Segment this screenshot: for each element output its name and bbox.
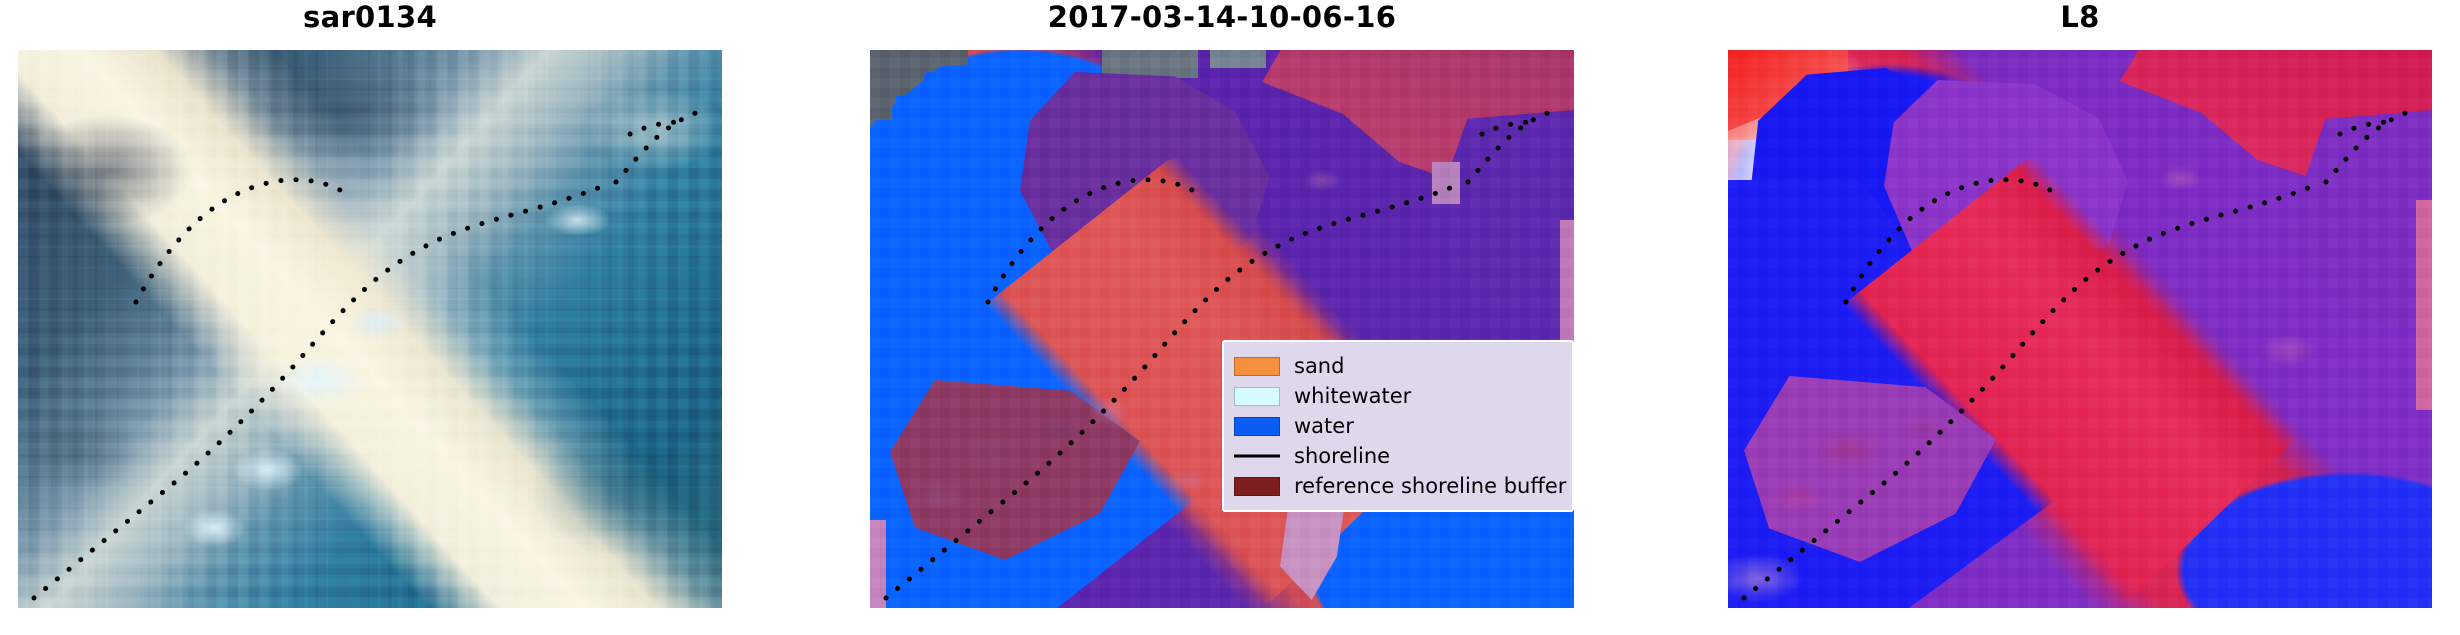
legend-label-whitewater: whitewater	[1294, 386, 1411, 407]
legend-swatch-reference-shoreline-buffer	[1234, 477, 1280, 496]
legend-swatch-water	[1234, 417, 1280, 436]
legend-label-sand: sand	[1294, 356, 1344, 377]
legend-item-whitewater: whitewater	[1234, 381, 1560, 411]
legend-swatch-sand	[1234, 357, 1280, 376]
panel-image-sar	[18, 50, 722, 608]
legend-box: sand whitewater water shoreline referenc…	[1222, 340, 1574, 512]
legend-line-shoreline	[1234, 447, 1280, 466]
panel-image-index	[1728, 50, 2432, 608]
panel-title-index: L8	[1728, 0, 2432, 34]
panel-sar: sar0134	[18, 0, 722, 608]
legend-label-reference-shoreline-buffer: reference shoreline buffer	[1294, 476, 1566, 497]
figure-canvas: sar0134 2017-03-14-10-06-16	[0, 0, 2460, 635]
index-mottle-layer	[1728, 50, 2432, 608]
panel-title-classification: 2017-03-14-10-06-16	[870, 0, 1574, 34]
classification-mottle-layer	[870, 50, 1574, 608]
legend-item-reference-shoreline-buffer: reference shoreline buffer	[1234, 471, 1560, 501]
legend-item-sand: sand	[1234, 351, 1560, 381]
panel-classification: 2017-03-14-10-06-16	[870, 0, 1574, 608]
legend-label-water: water	[1294, 416, 1354, 437]
panel-index: L8	[1728, 0, 2432, 608]
panel-image-classification: sand whitewater water shoreline referenc…	[870, 50, 1574, 608]
panel-title-sar: sar0134	[18, 0, 722, 34]
legend-label-shoreline: shoreline	[1294, 446, 1390, 467]
legend-item-water: water	[1234, 411, 1560, 441]
sar-pixel-noise	[18, 50, 722, 608]
legend-swatch-whitewater	[1234, 387, 1280, 406]
legend-item-shoreline: shoreline	[1234, 441, 1560, 471]
